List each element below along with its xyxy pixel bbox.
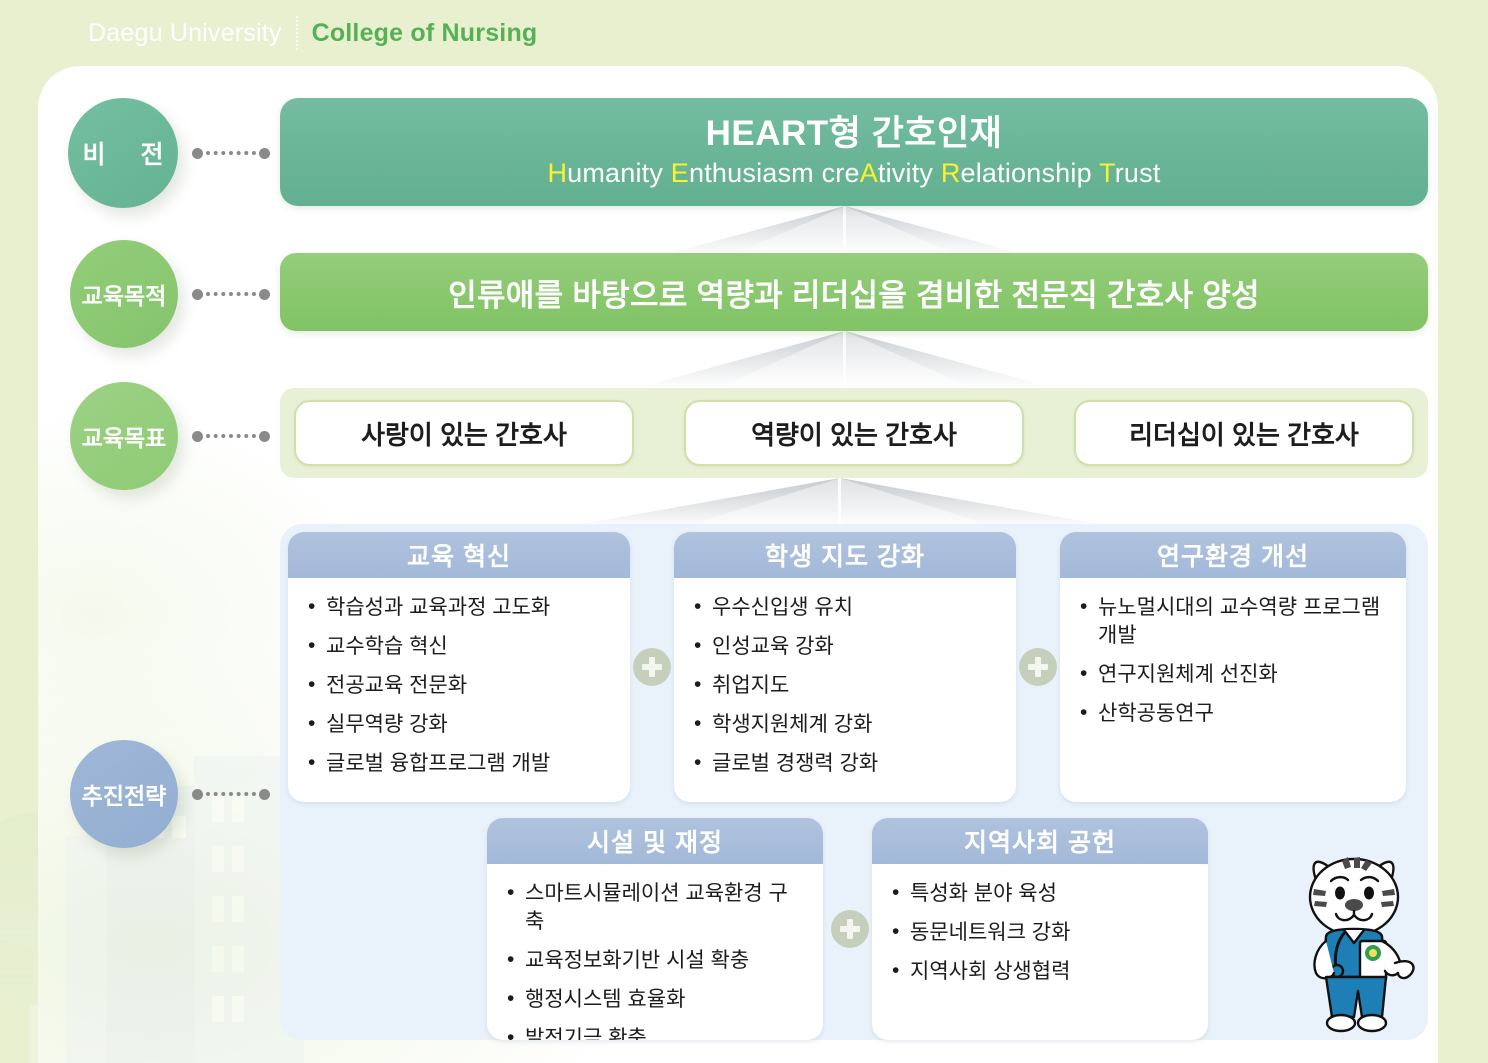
list-item: 학생지원체계 강화 bbox=[694, 711, 1000, 739]
list-item: 지역사회 상생협력 bbox=[892, 958, 1192, 986]
connector-strategy bbox=[192, 787, 270, 801]
list-item: 실무역량 강화 bbox=[308, 711, 614, 739]
vision-title: HEART형 간호인재 bbox=[706, 115, 1003, 154]
page-header: Daegu University College of Nursing bbox=[0, 0, 1488, 66]
university-name: Daegu University bbox=[88, 19, 282, 48]
list-item: 동문네트워크 강화 bbox=[892, 919, 1192, 947]
strategy-card-student-guidance[interactable]: 학생 지도 강화 우수신입생 유치 인성교육 강화 취업지도 학생지원체계 강화… bbox=[674, 532, 1016, 802]
connector-dot-start bbox=[192, 789, 203, 800]
connector-dot-end bbox=[259, 148, 270, 159]
connector-purpose bbox=[192, 287, 270, 301]
list-item: 교수학습 혁신 bbox=[308, 633, 614, 661]
strategy-card-research-environment[interactable]: 연구환경 개선 뉴노멀시대의 교수역량 프로그램 개발 연구지원체계 선진화 산… bbox=[1060, 532, 1406, 802]
list-item: 뉴노멀시대의 교수역량 프로그램 개발 bbox=[1080, 594, 1390, 650]
connector-dot-start bbox=[192, 148, 203, 159]
strategy-card-body: 특성화 분야 육성 동문네트워크 강화 지역사회 상생협력 bbox=[872, 864, 1208, 1007]
strategy-card-community-contribution[interactable]: 지역사회 공헌 특성화 분야 육성 동문네트워크 강화 지역사회 상생협력 bbox=[872, 818, 1208, 1040]
strategy-card-list: 학습성과 교육과정 고도화 교수학습 혁신 전공교육 전문화 실무역량 강화 글… bbox=[308, 594, 614, 778]
connector-dash bbox=[206, 292, 256, 296]
list-item: 학습성과 교육과정 고도화 bbox=[308, 594, 614, 622]
goals-band: 사랑이 있는 간호사 역량이 있는 간호사 리더십이 있는 간호사 bbox=[280, 388, 1428, 478]
connector-dot-end bbox=[259, 431, 270, 442]
vision-subtitle: Humanity Enthusiasm creAtivity Relations… bbox=[547, 158, 1160, 189]
header-divider bbox=[296, 16, 298, 50]
list-item: 교육정보화기반 시설 확충 bbox=[507, 947, 807, 975]
row-label-purpose: 교육목적 bbox=[70, 240, 178, 348]
purpose-banner: 인류애를 바탕으로 역량과 리더십을 겸비한 전문직 간호사 양성 bbox=[280, 253, 1428, 331]
vision-banner: HEART형 간호인재 Humanity Enthusiasm creAtivi… bbox=[280, 98, 1428, 206]
connector-dot-start bbox=[192, 431, 203, 442]
list-item: 특성화 분야 육성 bbox=[892, 880, 1192, 908]
strategy-card-list: 뉴노멀시대의 교수역량 프로그램 개발 연구지원체계 선진화 산학공동연구 bbox=[1080, 594, 1390, 728]
strategy-card-list: 특성화 분야 육성 동문네트워크 강화 지역사회 상생협력 bbox=[892, 880, 1192, 986]
strategy-card-title: 학생 지도 강화 bbox=[674, 532, 1016, 578]
goal-item-3[interactable]: 리더십이 있는 간호사 bbox=[1074, 400, 1414, 466]
list-item: 행정시스템 효율화 bbox=[507, 986, 807, 1014]
heart-initial: E bbox=[671, 158, 689, 188]
heart-initial: R bbox=[941, 158, 961, 188]
strategy-card-title: 연구환경 개선 bbox=[1060, 532, 1406, 578]
connector-dash bbox=[206, 434, 256, 438]
connector-dot-end bbox=[259, 789, 270, 800]
heart-initial: A bbox=[860, 158, 878, 188]
connector-goal bbox=[192, 429, 270, 443]
goal-item-1[interactable]: 사랑이 있는 간호사 bbox=[294, 400, 634, 466]
strategy-card-body: 우수신입생 유치 인성교육 강화 취업지도 학생지원체계 강화 글로벌 경쟁력 … bbox=[674, 578, 1016, 799]
strategy-card-body: 스마트시뮬레이션 교육환경 구축 교육정보화기반 시설 확충 행정시스템 효율화… bbox=[487, 864, 823, 1040]
connector-dot-end bbox=[259, 289, 270, 300]
list-item: 취업지도 bbox=[694, 672, 1000, 700]
list-item: 발전기금 확충 bbox=[507, 1025, 807, 1040]
plus-icon bbox=[633, 648, 671, 686]
strategy-card-list: 스마트시뮬레이션 교육환경 구축 교육정보화기반 시설 확충 행정시스템 효율화… bbox=[507, 880, 807, 1040]
connector-dash bbox=[206, 792, 256, 796]
row-label-strategy: 추진전략 bbox=[70, 740, 178, 848]
strategy-card-title: 시설 및 재정 bbox=[487, 818, 823, 864]
list-item: 우수신입생 유치 bbox=[694, 594, 1000, 622]
heart-initial: H bbox=[547, 158, 567, 188]
connector-dot-start bbox=[192, 289, 203, 300]
building-watermark bbox=[66, 666, 316, 1063]
heart-initial: T bbox=[1099, 158, 1115, 188]
row-label-vision: 비 전 bbox=[68, 98, 178, 208]
connector-dash bbox=[206, 151, 256, 155]
plus-icon bbox=[831, 910, 869, 948]
strategy-card-body: 학습성과 교육과정 고도화 교수학습 혁신 전공교육 전문화 실무역량 강화 글… bbox=[288, 578, 630, 799]
connector-vision bbox=[192, 146, 270, 160]
list-item: 전공교육 전문화 bbox=[308, 672, 614, 700]
strategy-card-list: 우수신입생 유치 인성교육 강화 취업지도 학생지원체계 강화 글로벌 경쟁력 … bbox=[694, 594, 1000, 778]
college-name: College of Nursing bbox=[312, 19, 538, 48]
list-item: 스마트시뮬레이션 교육환경 구축 bbox=[507, 880, 807, 936]
tiger-nurse-mascot bbox=[1282, 845, 1432, 1045]
strategy-card-facilities-finance[interactable]: 시설 및 재정 스마트시뮬레이션 교육환경 구축 교육정보화기반 시설 확충 행… bbox=[487, 818, 823, 1040]
row-label-goal: 교육목표 bbox=[70, 382, 178, 490]
list-item: 연구지원체계 선진화 bbox=[1080, 661, 1390, 689]
plus-icon bbox=[1019, 648, 1057, 686]
strategy-card-title: 교육 혁신 bbox=[288, 532, 630, 578]
goal-item-2[interactable]: 역량이 있는 간호사 bbox=[684, 400, 1024, 466]
list-item: 산학공동연구 bbox=[1080, 700, 1390, 728]
list-item: 글로벌 경쟁력 강화 bbox=[694, 750, 1000, 778]
strategy-card-title: 지역사회 공헌 bbox=[872, 818, 1208, 864]
list-item: 글로벌 융합프로그램 개발 bbox=[308, 750, 614, 778]
strategy-card-education-innovation[interactable]: 교육 혁신 학습성과 교육과정 고도화 교수학습 혁신 전공교육 전문화 실무역… bbox=[288, 532, 630, 802]
strategy-card-body: 뉴노멀시대의 교수역량 프로그램 개발 연구지원체계 선진화 산학공동연구 bbox=[1060, 578, 1406, 749]
list-item: 인성교육 강화 bbox=[694, 633, 1000, 661]
